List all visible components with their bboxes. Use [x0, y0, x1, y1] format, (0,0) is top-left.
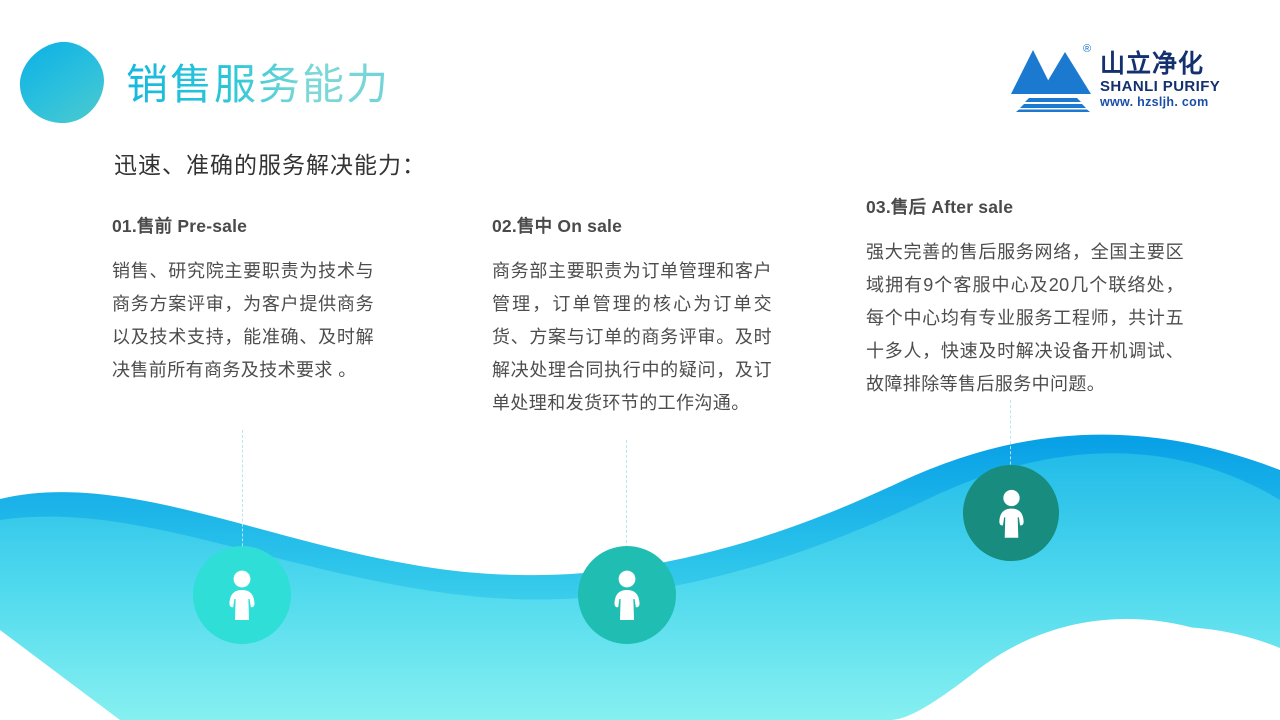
slide-canvas: 销售服务能力 ® 山立净化 SHANLI PURIFY www. hzsljh.… — [0, 0, 1280, 720]
content-column-after-sale: 03.售后 After sale 强大完善的售后服务网络，全国主要区域拥有9个客… — [866, 194, 1184, 401]
person-icon — [995, 488, 1028, 539]
content-column-pre-sale: 01.售前 Pre-sale 销售、研究院主要职责为技术与商务方案评审，为客户提… — [112, 213, 374, 387]
title-decoration-blob — [18, 40, 106, 125]
logo-website: www. hzsljh. com — [1100, 95, 1225, 110]
column-body-text: 商务部主要职责为订单管理和客户管理，订单管理的核心为订单交货、方案与订单的商务评… — [492, 255, 772, 420]
page-title: 销售服务能力 — [126, 59, 390, 111]
section-subtitle: 迅速、准确的服务解决能力： — [114, 146, 426, 180]
person-icon — [610, 569, 644, 621]
person-icon — [225, 569, 259, 621]
column-heading: 03.售后 After sale — [866, 194, 1184, 219]
logo-name-en: SHANLI PURIFY — [1100, 78, 1225, 95]
company-logo: ® 山立净化 SHANLI PURIFY www. hzsljh. com — [1007, 44, 1222, 118]
column-body-text: 强大完善的售后服务网络，全国主要区域拥有9个客服中心及20几个联络处，每个中心均… — [866, 236, 1184, 401]
registered-trademark-icon: ® — [1083, 44, 1091, 55]
column-body-text: 销售、研究院主要职责为技术与商务方案评审，为客户提供商务以及技术支持，能准确、及… — [112, 255, 374, 387]
badge-on-sale — [578, 546, 676, 644]
column-heading: 02.售中 On sale — [492, 213, 772, 238]
mountain-logo-icon — [1007, 46, 1097, 112]
badge-pre-sale — [193, 546, 291, 644]
logo-name-cn: 山立净化 — [1100, 50, 1225, 78]
content-column-on-sale: 02.售中 On sale 商务部主要职责为订单管理和客户管理，订单管理的核心为… — [492, 213, 772, 420]
badge-after-sale — [963, 465, 1059, 561]
logo-text-block: 山立净化 SHANLI PURIFY www. hzsljh. com — [1100, 50, 1225, 110]
column-heading: 01.售前 Pre-sale — [112, 213, 374, 238]
